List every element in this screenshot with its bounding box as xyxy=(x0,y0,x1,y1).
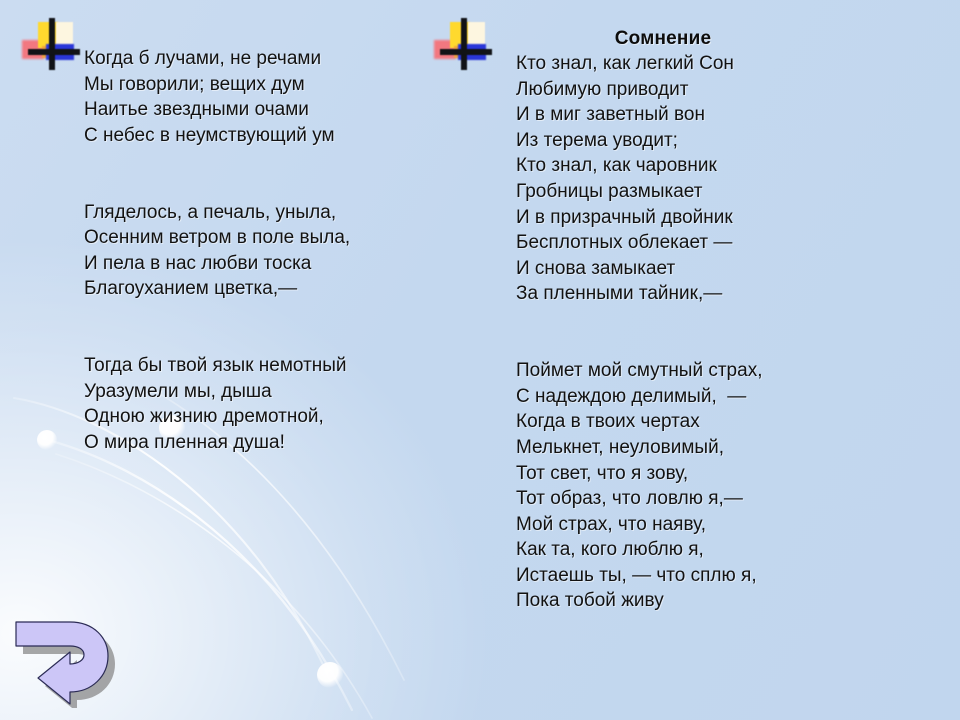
poem-line: С надеждою делимый, — xyxy=(516,384,846,410)
poem-line: Наитье звездными очами xyxy=(84,97,444,123)
poem-line: Любимую приводит xyxy=(516,77,846,103)
poem-line: Благоуханием цветка,— xyxy=(84,276,444,302)
poem-line: Осенним ветром в поле выла, xyxy=(84,225,444,251)
poem-line: Кто знал, как чаровник xyxy=(516,153,846,179)
palette-cross-icon xyxy=(20,16,78,74)
slide-canvas: Когда б лучами, не речами Мы говорили; в… xyxy=(0,0,960,720)
poem-line: Уразумели мы, дыша xyxy=(84,379,444,405)
poem-line: Одною жизнию дремотной, xyxy=(84,404,444,430)
poem-line: Гробницы размыкает xyxy=(516,179,846,205)
poem-line: Кто знал, как легкий Сон xyxy=(516,51,846,77)
poem-line: Тот образ, что ловлю я,— xyxy=(516,486,846,512)
page-title: Сомнение xyxy=(516,26,846,51)
poem-line: И в миг заветный вон xyxy=(516,102,846,128)
poem-line-blank xyxy=(84,302,444,328)
poem-line: Бесплотных облекает — xyxy=(516,230,846,256)
poem-line: И пела в нас любви тоска xyxy=(84,251,444,277)
poem-line: Пока тобой живу xyxy=(516,588,846,614)
poem-line: Тогда бы твой язык немотный xyxy=(84,353,444,379)
poem-line: И в призрачный двойник xyxy=(516,205,846,231)
poem-line: Из терема уводит; xyxy=(516,128,846,154)
poem-line: Как та, кого люблю я, xyxy=(516,537,846,563)
poem-line: Мой страх, что наяву, xyxy=(516,512,846,538)
poem-line-blank xyxy=(516,307,846,333)
poem-line: Когда б лучами, не речами xyxy=(84,46,444,72)
poem-line: И снова замыкает xyxy=(516,256,846,282)
left-poem-column: Когда б лучами, не речами Мы говорили; в… xyxy=(84,46,444,456)
poem-line-blank xyxy=(84,328,444,354)
poem-line: Тот свет, что я зову, xyxy=(516,461,846,487)
poem-line: О мира пленная душа! xyxy=(84,430,444,456)
poem-line: Истаешь ты, — что сплю я, xyxy=(516,563,846,589)
poem-line: Мелькнет, неуловимый, xyxy=(516,435,846,461)
poem-line-blank xyxy=(84,174,444,200)
right-poem-column: Сомнение Кто знал, как легкий Сон Любиму… xyxy=(516,26,846,614)
poem-line: С небес в неумствующий ум xyxy=(84,123,444,149)
poem-line: Гляделось, а печаль, уныла, xyxy=(84,200,444,226)
poem-line: Когда в твоих чертах xyxy=(516,409,846,435)
u-turn-arrow-icon[interactable] xyxy=(8,608,130,708)
poem-line-blank xyxy=(516,333,846,359)
poem-line-blank xyxy=(84,148,444,174)
poem-line: Поймет мой смутный страх, xyxy=(516,358,846,384)
poem-line: За пленными тайник,— xyxy=(516,281,846,307)
poem-line: Мы говорили; вещих дум xyxy=(84,72,444,98)
